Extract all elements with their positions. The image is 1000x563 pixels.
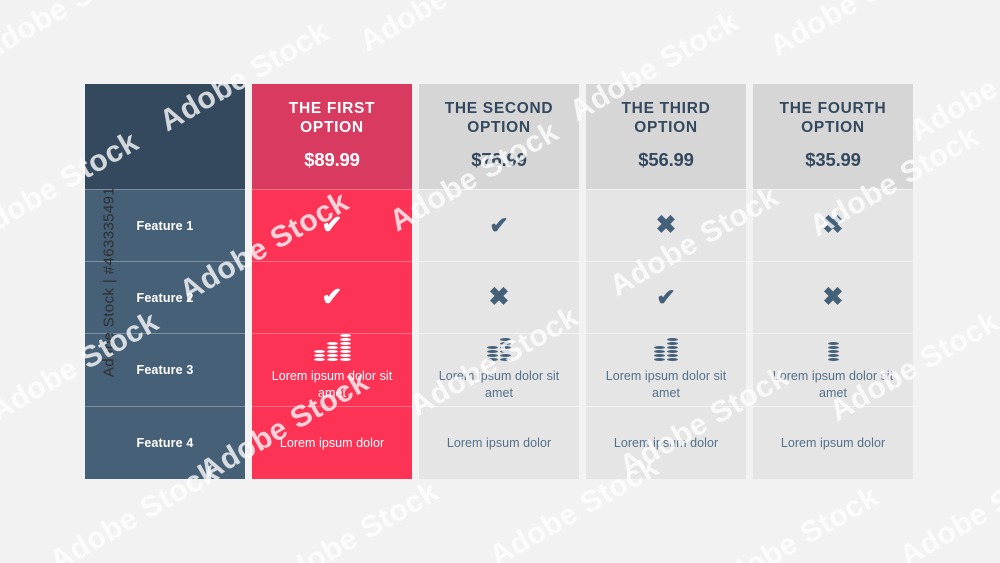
- plan-feature-text: Lorem ipsum dolor: [614, 435, 718, 452]
- plan-feature-text: Lorem ipsum dolor: [447, 435, 551, 452]
- coin-disc: [667, 358, 678, 361]
- plan-title-line2: OPTION: [300, 119, 364, 136]
- diagonal-watermark: Adobe Stock: [704, 480, 885, 563]
- check-icon: ✔: [322, 285, 343, 310]
- coin-stack: [654, 346, 665, 361]
- plan-feature-cell: ✖: [586, 189, 746, 261]
- coins-icon: [654, 339, 678, 361]
- coin-disc: [500, 346, 511, 349]
- plan-feature-cell: Lorem ipsum dolor: [252, 406, 412, 479]
- feature-label-4: Feature 4: [137, 436, 194, 450]
- coin-disc: [667, 338, 678, 341]
- plan-price-second: $76.99: [471, 149, 526, 171]
- label-column-header: [85, 84, 245, 189]
- plan-feature-cell: Lorem ipsum dolor sit amet: [252, 333, 412, 406]
- coin-disc: [340, 350, 351, 353]
- coin-disc: [314, 358, 325, 361]
- feature-label-1: Feature 1: [137, 219, 194, 233]
- coin-disc: [327, 354, 338, 357]
- plan-title-first: THE FIRST OPTION: [289, 100, 375, 138]
- plan-feature-cell: ✖: [753, 189, 913, 261]
- cross-icon: ✖: [823, 285, 844, 310]
- coin-disc: [654, 350, 665, 353]
- feature-label-cell: Feature 3: [85, 333, 245, 406]
- coin-stack: [667, 338, 678, 361]
- check-icon: ✔: [656, 286, 675, 309]
- diagonal-watermark: Adobe Stock: [0, 0, 155, 69]
- plan-feature-cell: Lorem ipsum dolor: [753, 406, 913, 479]
- coin-disc: [340, 338, 351, 341]
- feature-label-3: Feature 3: [137, 363, 194, 377]
- cross-icon: ✖: [823, 213, 844, 238]
- coin-disc: [667, 350, 678, 353]
- plan-column-fourth[interactable]: THE FOURTH OPTION $35.99 ✖ ✖ Lorem ipsum…: [753, 84, 913, 481]
- coin-disc: [327, 358, 338, 361]
- plan-feature-cell: ✖: [419, 261, 579, 333]
- coin-disc: [654, 346, 665, 349]
- plan-header-fourth: THE FOURTH OPTION $35.99: [753, 84, 913, 189]
- plan-feature-cell: Lorem ipsum dolor sit amet: [586, 333, 746, 406]
- coin-disc: [340, 358, 351, 361]
- coin-disc: [487, 350, 498, 353]
- plan-title-third: THE THIRD OPTION: [622, 100, 711, 138]
- coin-disc: [340, 334, 351, 337]
- coin-disc: [314, 350, 325, 353]
- diagonal-watermark: Adobe Stock: [904, 25, 1000, 149]
- plan-feature-cell: ✔: [586, 261, 746, 333]
- coin-disc: [340, 354, 351, 357]
- coin-disc: [487, 346, 498, 349]
- cross-icon: ✖: [489, 285, 510, 310]
- plan-feature-cell: ✔: [419, 189, 579, 261]
- plan-price-fourth: $35.99: [805, 149, 860, 171]
- plan-column-second[interactable]: THE SECOND OPTION $76.99 ✔ ✖ Lorem ipsum…: [419, 84, 579, 481]
- plan-header-second: THE SECOND OPTION $76.99: [419, 84, 579, 189]
- plan-feature-text: Lorem ipsum dolor: [280, 435, 384, 452]
- coin-disc: [500, 342, 511, 345]
- coin-disc: [327, 346, 338, 349]
- plan-title-line1: THE THIRD: [622, 100, 711, 117]
- feature-label-cell: Feature 1: [85, 189, 245, 261]
- plan-feature-cell: Lorem ipsum dolor sit amet: [419, 333, 579, 406]
- diagonal-watermark: Adobe Stock: [764, 0, 945, 64]
- plan-feature-text: Lorem ipsum dolor: [781, 435, 885, 452]
- plan-title-line2: OPTION: [467, 119, 531, 136]
- coin-stack: [487, 346, 498, 361]
- coin-disc: [654, 354, 665, 357]
- coin-disc: [828, 354, 839, 357]
- plan-title-line1: THE SECOND: [445, 100, 554, 117]
- plan-feature-cell: Lorem ipsum dolor: [419, 406, 579, 479]
- coin-disc: [828, 358, 839, 361]
- coin-stack: [500, 338, 511, 361]
- plan-feature-text: Lorem ipsum dolor sit amet: [262, 368, 402, 401]
- coin-disc: [314, 354, 325, 357]
- coin-disc: [487, 354, 498, 357]
- coins-icon: [487, 339, 511, 361]
- plan-price-first: $89.99: [304, 149, 359, 171]
- coin-disc: [667, 346, 678, 349]
- feature-label-cell: Feature 2: [85, 261, 245, 333]
- coin-disc: [500, 358, 511, 361]
- coin-disc: [828, 346, 839, 349]
- plan-feature-cell: Lorem ipsum dolor: [586, 406, 746, 479]
- cross-icon: ✖: [656, 213, 677, 238]
- coin-stack: [340, 334, 351, 361]
- coin-disc: [500, 354, 511, 357]
- plan-feature-cell: ✖: [753, 261, 913, 333]
- feature-label-2: Feature 2: [137, 291, 194, 305]
- plan-feature-text: Lorem ipsum dolor sit amet: [596, 368, 736, 401]
- plan-title-line1: THE FOURTH: [780, 100, 887, 117]
- feature-label-cell: Feature 4: [85, 406, 245, 479]
- coin-disc: [828, 350, 839, 353]
- plan-column-first[interactable]: THE FIRST OPTION $89.99 ✔ ✔ Lorem ipsum …: [252, 84, 412, 481]
- feature-label-column: Feature 1 Feature 2 Feature 3 Feature 4: [85, 84, 245, 481]
- plan-title-fourth: THE FOURTH OPTION: [780, 100, 887, 138]
- coin-disc: [667, 354, 678, 357]
- plan-feature-cell: ✔: [252, 261, 412, 333]
- coin-stack: [314, 350, 325, 361]
- plan-title-line2: OPTION: [801, 119, 865, 136]
- plan-title-second: THE SECOND OPTION: [445, 100, 554, 138]
- pricing-comparison-table: Feature 1 Feature 2 Feature 3 Feature 4 …: [85, 84, 915, 481]
- coin-disc: [828, 342, 839, 345]
- coin-stack: [828, 342, 839, 361]
- diagonal-watermark: Adobe Stock: [264, 475, 445, 563]
- diagonal-watermark: Adobe Stock: [354, 0, 535, 59]
- check-icon: ✔: [489, 214, 508, 237]
- plan-column-third[interactable]: THE THIRD OPTION $56.99 ✖ ✔ Lorem ipsum …: [586, 84, 746, 481]
- plan-feature-cell: Lorem ipsum dolor sit amet: [753, 333, 913, 406]
- coin-disc: [487, 358, 498, 361]
- plan-title-line2: OPTION: [634, 119, 698, 136]
- coin-disc: [667, 342, 678, 345]
- coin-disc: [500, 350, 511, 353]
- coin-disc: [654, 358, 665, 361]
- plan-price-third: $56.99: [638, 149, 693, 171]
- coin-disc: [340, 346, 351, 349]
- plan-feature-cell: ✔: [252, 189, 412, 261]
- plan-header-first: THE FIRST OPTION $89.99: [252, 84, 412, 189]
- coin-stack: [327, 342, 338, 361]
- coin-disc: [327, 342, 338, 345]
- plan-feature-text: Lorem ipsum dolor sit amet: [429, 368, 569, 401]
- coin-disc: [500, 338, 511, 341]
- coin-disc: [327, 350, 338, 353]
- coins-icon: [828, 339, 839, 361]
- plan-feature-text: Lorem ipsum dolor sit amet: [763, 368, 903, 401]
- plan-header-third: THE THIRD OPTION $56.99: [586, 84, 746, 189]
- coin-disc: [340, 342, 351, 345]
- coins-icon: [314, 339, 351, 361]
- plan-title-line1: THE FIRST: [289, 100, 375, 117]
- check-icon: ✔: [322, 213, 343, 238]
